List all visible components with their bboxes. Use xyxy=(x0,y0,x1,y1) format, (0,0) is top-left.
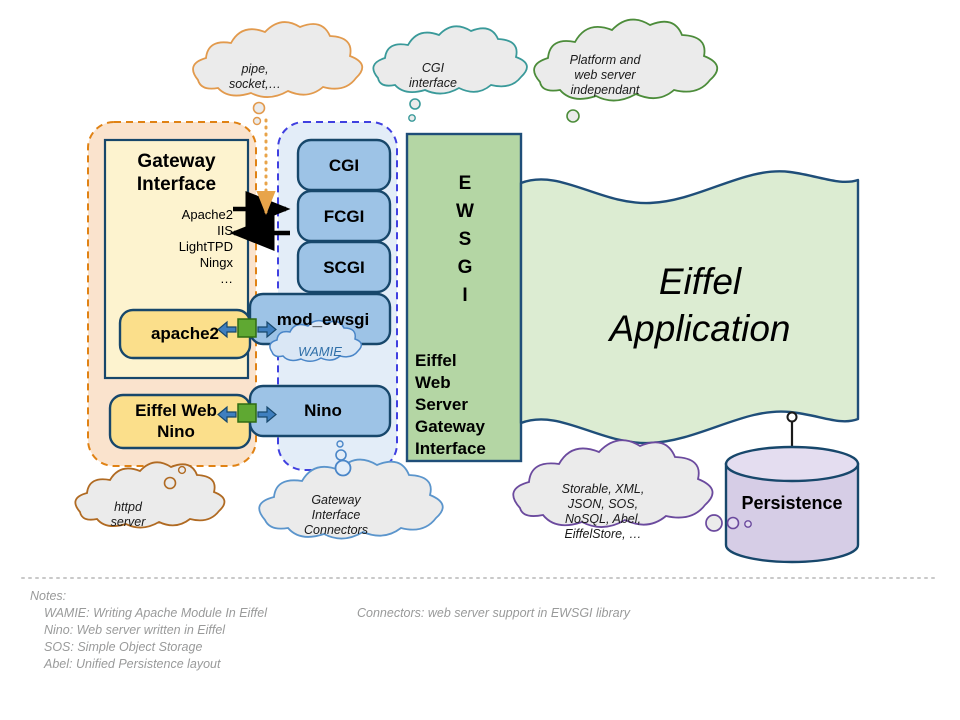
gateway-interface-title: Gateway Interface xyxy=(105,150,248,196)
notes-heading: Notes: xyxy=(30,588,66,605)
notes-left-1: WAMIE: Writing Apache Module In Eiffel xyxy=(44,605,267,622)
connector-label-fcgi: FCGI xyxy=(298,206,390,227)
cloud-label-platform-independant: Platform and web server independant xyxy=(540,53,670,98)
persistence-label: Persistence xyxy=(726,493,858,514)
notes-left-4: Abel: Unified Persistence layout xyxy=(44,656,220,673)
cloud-label-gateway-connectors: Gateway Interface Connectors xyxy=(278,493,394,538)
gateway-server-list: Apache2 IIS LightTPD Ningx … xyxy=(105,207,233,287)
cloud-label-httpd-server: httpd server xyxy=(78,500,178,530)
notes-left-3: SOS: Simple Object Storage xyxy=(44,639,202,656)
connector-label-scgi: SCGI xyxy=(298,257,390,278)
eiffel-application-label: Eiffel Application xyxy=(570,258,830,352)
notes-left-2: Nino: Web server written in Eiffel xyxy=(44,622,225,639)
cloud-label-pipe-socket: pipe, socket,… xyxy=(196,62,314,92)
diagram-canvas: pipe, socket,… CGI interface Platform an… xyxy=(0,0,960,720)
cloud-label-persistence-tech: Storable, XML, JSON, SOS, NoSQL, Abel, E… xyxy=(538,482,668,542)
ewsgi-acronym: E W S G I xyxy=(420,170,510,310)
connector-label-cgi: CGI xyxy=(298,155,390,176)
cloud-label-cgi-interface: CGI interface xyxy=(380,61,486,91)
connector-label-nino: Nino xyxy=(256,400,390,421)
ewsgi-expansion: Eiffel Web Server Gateway Interface xyxy=(415,350,519,460)
apache2-label: apache2 xyxy=(120,323,250,344)
notes-right-1: Connectors: web server support in EWSGI … xyxy=(357,605,630,622)
eiffel-web-nino-label: Eiffel Web Nino xyxy=(108,400,244,442)
connector-label-mod-ewsgi: mod_ewsgi xyxy=(256,309,390,330)
cloud-label-wamie: WAMIE xyxy=(272,344,368,359)
